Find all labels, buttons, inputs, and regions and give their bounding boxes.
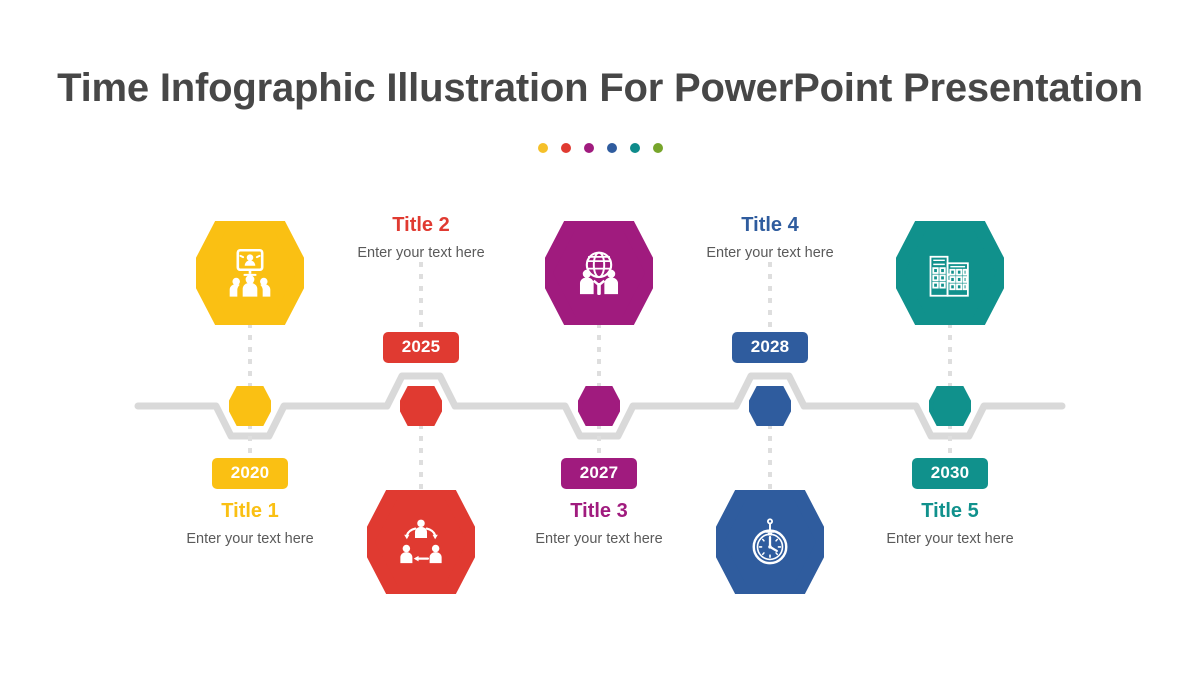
slide-canvas: Time Infographic Illustration For PowerP… (0, 0, 1200, 675)
step-year-badge: 2028 (732, 332, 808, 363)
timeline-node-marker[interactable] (749, 386, 791, 426)
timeline-node-marker[interactable] (229, 386, 271, 426)
team-network-icon (395, 516, 447, 568)
office-buildings-icon (924, 247, 976, 299)
step-year-badge: 2025 (383, 332, 459, 363)
step-year-badge: 2020 (212, 458, 288, 489)
step-icon-hexagon[interactable] (896, 221, 1004, 325)
step-icon-hexagon[interactable] (367, 490, 475, 594)
timeline-node-marker[interactable] (929, 386, 971, 426)
step-title: Title 5 (825, 500, 1075, 522)
presentation-meeting-icon (224, 247, 276, 299)
global-partnership-icon (573, 247, 625, 299)
step-icon-hexagon[interactable] (716, 490, 824, 594)
step-year-badge: 2027 (561, 458, 637, 489)
step-subtitle: Enter your text here (825, 531, 1075, 547)
step-text-block: Title 5Enter your text here (825, 500, 1075, 547)
timeline-node-marker[interactable] (400, 386, 442, 426)
step-icon-hexagon[interactable] (196, 221, 304, 325)
timeline-node-marker[interactable] (578, 386, 620, 426)
step-icon-hexagon[interactable] (545, 221, 653, 325)
stopwatch-icon (744, 516, 796, 568)
timeline-step-5: 2030Title 5Enter your text here (820, 0, 1080, 675)
step-year-badge: 2030 (912, 458, 988, 489)
